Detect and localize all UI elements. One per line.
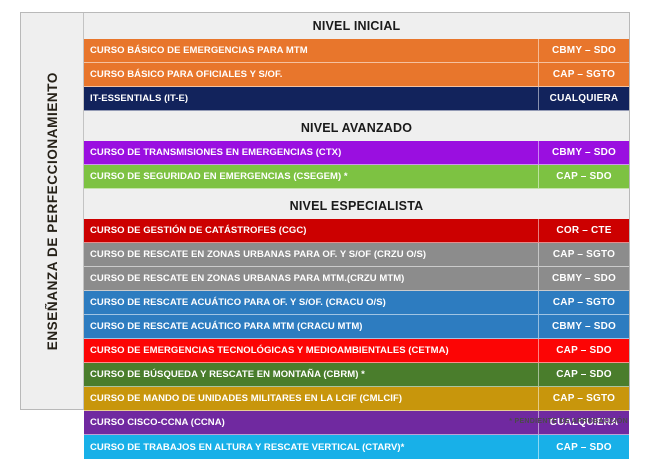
course-name-cell: CURSO BÁSICO PARA OFICIALES Y S/OF.	[84, 63, 538, 86]
course-name-cell: CURSO DE RESCATE ACUÁTICO PARA OF. Y S/O…	[84, 291, 538, 314]
course-rank-cell: CBMY – SDO	[538, 39, 629, 62]
course-name-cell: CURSO BÁSICO DE EMERGENCIAS PARA MTM	[84, 39, 538, 62]
course-rank-cell: CAP – SGTO	[538, 291, 629, 314]
table-row[interactable]: CURSO DE RESCATE ACUÁTICO PARA MTM (CRAC…	[84, 315, 629, 339]
table-row[interactable]: CURSO DE RESCATE ACUÁTICO PARA OF. Y S/O…	[84, 291, 629, 315]
table-row[interactable]: CURSO DE TRABAJOS EN ALTURA Y RESCATE VE…	[84, 435, 629, 459]
course-rank-cell: COR – CTE	[538, 219, 629, 242]
course-rank-cell: CAP – SDO	[538, 165, 629, 188]
course-rank-cell: CAP – SDO	[538, 435, 629, 459]
course-rank-cell: CAP – SGTO	[538, 243, 629, 266]
table-row[interactable]: CURSO DE GESTIÓN DE CATÁSTROFES (CGC)COR…	[84, 219, 629, 243]
course-rank-cell: CBMY – SDO	[538, 267, 629, 290]
course-sections: NIVEL INICIALCURSO BÁSICO DE EMERGENCIAS…	[84, 13, 629, 409]
table-row[interactable]: IT-ESSENTIALS (IT-E)CUALQUIERA	[84, 87, 629, 111]
table-row[interactable]: CURSO DE MANDO DE UNIDADES MILITARES EN …	[84, 387, 629, 411]
vertical-category-label: ENSEÑANZA DE PERFECCIONAMIENTO	[21, 13, 84, 409]
course-name-cell: CURSO DE BÚSQUEDA Y RESCATE EN MONTAÑA (…	[84, 363, 538, 386]
course-name-cell: IT-ESSENTIALS (IT-E)	[84, 87, 538, 110]
footnote-pending-approval: * PENDIENTE DE APROBACCIÓN	[509, 418, 628, 425]
table-row[interactable]: CURSO DE EMERGENCIAS TECNOLÓGICAS Y MEDI…	[84, 339, 629, 363]
vertical-category-label-text: ENSEÑANZA DE PERFECCIONAMIENTO	[45, 72, 60, 350]
course-name-cell: CURSO DE RESCATE ACUÁTICO PARA MTM (CRAC…	[84, 315, 538, 338]
course-matrix-page: ENSEÑANZA DE PERFECCIONAMIENTO NIVEL INI…	[0, 0, 650, 438]
course-name-cell: CURSO DE RESCATE EN ZONAS URBANAS PARA M…	[84, 267, 538, 290]
course-rank-cell: CAP – SDO	[538, 363, 629, 386]
course-name-cell: CURSO DE SEGURIDAD EN EMERGENCIAS (CSEGE…	[84, 165, 538, 188]
table-row[interactable]: CURSO DE SEGURIDAD EN EMERGENCIAS (CSEGE…	[84, 165, 629, 189]
course-rank-cell: CAP – SDO	[538, 339, 629, 362]
section-header: NIVEL AVANZADO	[84, 115, 629, 141]
course-matrix-table: ENSEÑANZA DE PERFECCIONAMIENTO NIVEL INI…	[20, 12, 630, 410]
course-rank-cell: CBMY – SDO	[538, 315, 629, 338]
course-rank-cell: CBMY – SDO	[538, 141, 629, 164]
course-rank-cell: CAP – SGTO	[538, 63, 629, 86]
course-name-cell: CURSO DE TRABAJOS EN ALTURA Y RESCATE VE…	[84, 435, 538, 459]
course-name-cell: CURSO DE MANDO DE UNIDADES MILITARES EN …	[84, 387, 538, 410]
course-name-cell: CURSO DE EMERGENCIAS TECNOLÓGICAS Y MEDI…	[84, 339, 538, 362]
course-rank-cell: CAP – SGTO	[538, 387, 629, 410]
table-row[interactable]: CURSO BÁSICO PARA OFICIALES Y S/OF.CAP –…	[84, 63, 629, 87]
table-row[interactable]: CURSO DE RESCATE EN ZONAS URBANAS PARA O…	[84, 243, 629, 267]
course-rank-cell: CUALQUIERA	[538, 87, 629, 110]
table-row[interactable]: CURSO DE TRANSMISIONES EN EMERGENCIAS (C…	[84, 141, 629, 165]
section-header: NIVEL ESPECIALISTA	[84, 193, 629, 219]
section-header: NIVEL INICIAL	[84, 13, 629, 39]
course-name-cell: CURSO DE GESTIÓN DE CATÁSTROFES (CGC)	[84, 219, 538, 242]
course-name-cell: CURSO DE RESCATE EN ZONAS URBANAS PARA O…	[84, 243, 538, 266]
course-name-cell: CURSO CISCO-CCNA (CCNA)	[84, 411, 538, 434]
course-name-cell: CURSO DE TRANSMISIONES EN EMERGENCIAS (C…	[84, 141, 538, 164]
table-row[interactable]: CURSO BÁSICO DE EMERGENCIAS PARA MTMCBMY…	[84, 39, 629, 63]
table-row[interactable]: CURSO DE RESCATE EN ZONAS URBANAS PARA M…	[84, 267, 629, 291]
table-row[interactable]: CURSO DE BÚSQUEDA Y RESCATE EN MONTAÑA (…	[84, 363, 629, 387]
